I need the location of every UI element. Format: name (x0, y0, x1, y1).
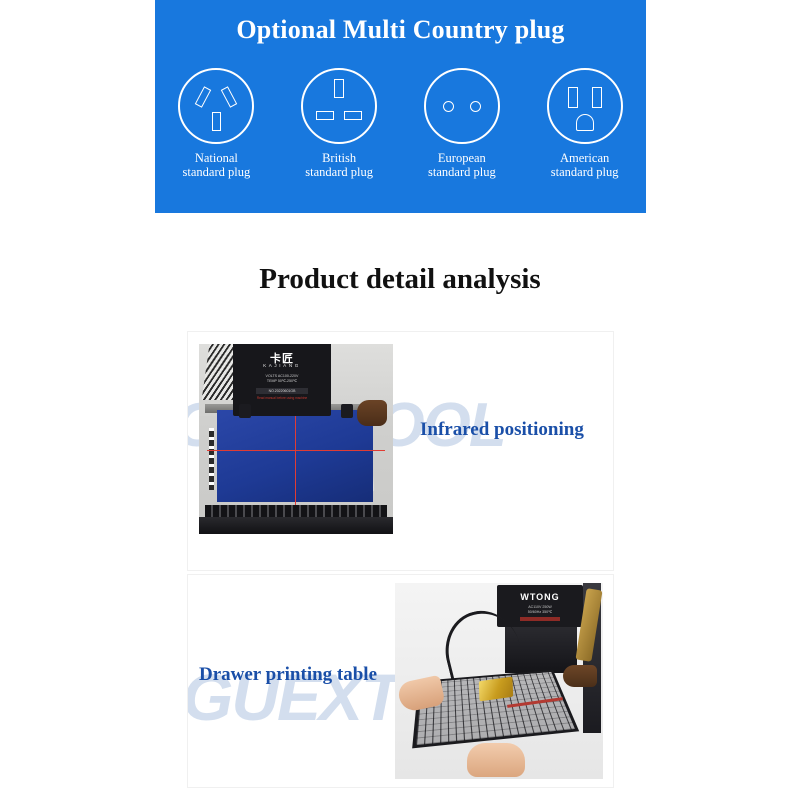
machine-brand: WTONG (497, 592, 583, 602)
panel-label-drawer-table: Drawer printing table (199, 664, 377, 686)
press-arm-right (341, 404, 353, 418)
plug-option-national[interactable]: National standard plug (160, 68, 272, 179)
eu-neutral-pin (470, 101, 481, 112)
eu-socket-icon (424, 68, 500, 144)
stamping-head: WTONG AC110V 250W 50/60Hz 350℃ (497, 585, 583, 627)
machine-model: NO.20220601GB (256, 388, 308, 394)
cn-live-pin (195, 86, 211, 107)
plug-caption: National standard plug (183, 151, 251, 179)
machine-base (199, 517, 393, 534)
machine-spec: VOLTS AC100-220V TEMP 50℃-250℃ (233, 374, 331, 384)
plug-option-american[interactable]: American standard plug (529, 68, 641, 179)
infrared-laser-horizontal (207, 450, 385, 451)
eu-live-pin (443, 101, 454, 112)
us-socket-icon (547, 68, 623, 144)
machine-label-bar (520, 617, 560, 621)
heat-press-photo: 卡匠 KAJIANG VOLTS AC100-220V TEMP 50℃-250… (199, 344, 393, 534)
detail-panel-infrared: GUEXTOOL 卡匠 KAJIANG VOLTS AC100-220V TEM… (188, 332, 613, 570)
section-heading: Product detail analysis (0, 263, 800, 296)
plug-caption: European standard plug (428, 151, 496, 179)
plug-caption: British standard plug (305, 151, 373, 179)
machine-brand-sub: KAJIANG (233, 363, 331, 368)
uk-live-pin (316, 111, 334, 120)
us-live-pin (568, 87, 578, 108)
plug-caption: American standard plug (551, 151, 619, 179)
left-scale-strip (209, 428, 214, 490)
operator-hand-right (563, 665, 597, 687)
cn-earth-pin (212, 112, 221, 131)
panel-label-infrared: Infrared positioning (420, 419, 584, 441)
plug-option-british[interactable]: British standard plug (283, 68, 395, 179)
uk-socket-icon (301, 68, 377, 144)
operator-hand (357, 400, 387, 426)
press-arm-left (239, 404, 251, 418)
banner-title: Optional Multi Country plug (155, 15, 646, 45)
uk-neutral-pin (344, 111, 362, 120)
uk-earth-pin (334, 79, 344, 98)
machine-warning: Read manual before using machine (233, 396, 331, 400)
cn-neutral-pin (221, 86, 237, 107)
plug-option-european[interactable]: European standard plug (406, 68, 518, 179)
multi-country-plug-banner: Optional Multi Country plug National sta… (155, 0, 646, 213)
plug-options-row: National standard plug British standard … (155, 68, 646, 179)
machine-spec: AC110V 250W 50/60Hz 350℃ (497, 605, 583, 615)
us-earth-pin (576, 114, 594, 131)
drawer-table-photo: WTONG AC110V 250W 50/60Hz 350℃ (395, 583, 603, 779)
cn-socket-icon (178, 68, 254, 144)
us-neutral-pin (592, 87, 602, 108)
operator-hand-bottom (467, 743, 525, 777)
